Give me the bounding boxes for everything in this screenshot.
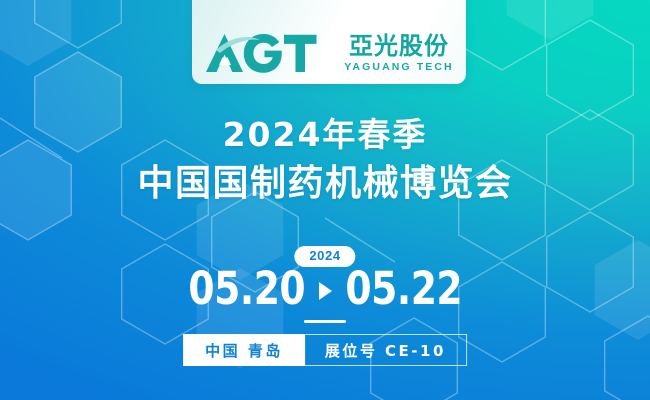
triangle-right-icon [319, 282, 332, 300]
event-banner: 亞光股份 YAGUANG TECH 2024年春季 中国国制药机械博览会 202… [0, 0, 650, 400]
page-title-line1: 2024年春季 [0, 116, 650, 155]
logo-company-name-en: YAGUANG TECH [344, 62, 453, 73]
location-label: 中国 青岛 [183, 334, 305, 366]
banner-title-block: 2024年春季 中国国制药机械博览会 [0, 116, 650, 206]
page-title-line2: 中国国制药机械博览会 [0, 161, 650, 206]
date-start: 05.20 [188, 266, 305, 311]
date-range: 05.20 05.22 [0, 266, 650, 311]
company-logo-card: 亞光股份 YAGUANG TECH [192, 0, 466, 84]
date-end: 05.22 [345, 266, 462, 311]
footer-info-bar: 中国 青岛 展位号 CE-10 [183, 334, 467, 366]
logo-company-name-cn: 亞光股份 [349, 34, 449, 58]
agt-logo-mark [204, 32, 332, 74]
date-underline-divider [304, 320, 346, 323]
booth-number-label: 展位号 CE-10 [305, 334, 467, 366]
